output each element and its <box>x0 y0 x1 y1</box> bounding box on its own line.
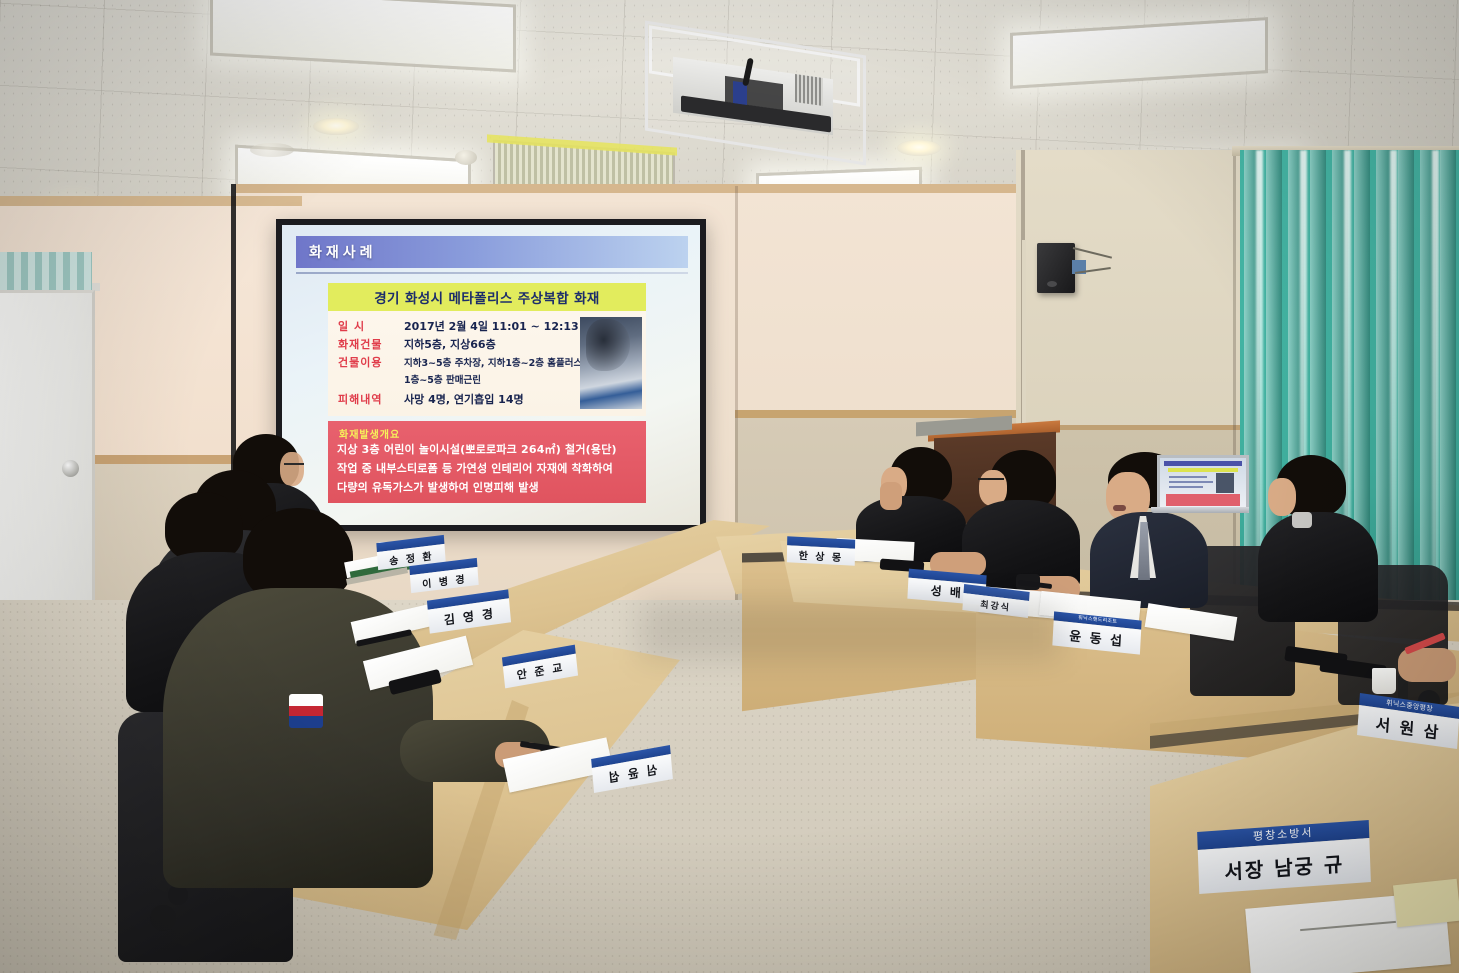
slide-summary-line: 지상 3층 어린이 놀이시설(뽀로로파크 264㎡) 철거(용단) <box>337 441 617 457</box>
slide-title-box: 경기 화성시 메타폴리스 주상복합 화재 <box>328 283 646 311</box>
nameplate-name: 서 원 삼 <box>1375 710 1441 743</box>
projector-vent-grille <box>795 74 823 106</box>
slide-detail-panel: 일 시 2017년 2월 4일 11:01 ~ 12:13 화재건물 지하5층,… <box>328 311 646 416</box>
paper-cup <box>1372 668 1396 694</box>
nameplate-name: 성 배 <box>930 582 963 602</box>
slide-summary-heading: 화재발생개요 <box>339 426 400 441</box>
slide-row-label: 일 시 <box>338 318 404 334</box>
fire-photo-inset <box>580 317 642 409</box>
slide-title-text: 경기 화성시 메타폴리스 주상복합 화재 <box>374 287 600 307</box>
smoke-detector <box>455 150 477 165</box>
left-wall-rail <box>0 196 302 206</box>
attendee-collar <box>1292 512 1312 528</box>
projector-mount-cage <box>645 38 860 143</box>
speaker-conduit <box>1022 240 1026 440</box>
slide-row-label: 화재건물 <box>338 336 404 352</box>
floor-shadow <box>640 600 1060 660</box>
slide-row-value: 사망 4명, 연기흡입 14명 <box>404 391 524 407</box>
smoke-plume <box>586 319 630 371</box>
slide-row-value: 1층~5층 판매근린 <box>404 372 481 386</box>
slide-row-label: 피해내역 <box>338 391 404 407</box>
back-wall-rail <box>236 184 1026 193</box>
laptop-slide-title <box>1168 468 1238 472</box>
eyeglasses-icon <box>978 478 1004 485</box>
nameplate-name: 서장 남궁 규 <box>1224 847 1345 884</box>
nameplate: 한 상 몽 <box>787 536 855 566</box>
presenter-laptop[interactable] <box>1157 455 1243 517</box>
door-knob[interactable] <box>62 460 79 477</box>
laptop-slide-photo <box>1216 473 1234 493</box>
slide-summary-line: 다량의 유독가스가 발생하여 인명피해 발생 <box>337 479 539 495</box>
slide-row-value: 지하5층, 지상66층 <box>404 336 496 352</box>
laptop-slide-redbox <box>1166 494 1240 506</box>
document-yellow <box>1393 879 1459 927</box>
laptop-slide-header <box>1164 461 1242 466</box>
laptop-screen <box>1157 455 1249 513</box>
jacket-logo-patch <box>289 694 323 728</box>
slide-header-bar: 화재사례 <box>296 236 688 268</box>
ceiling-downlight <box>897 140 941 156</box>
chair-caster <box>150 905 176 931</box>
speaker-cone-icon <box>1047 281 1057 287</box>
nameplate-chief: 평창소방서 서장 남궁 규 <box>1197 820 1371 894</box>
ceiling-downlight <box>313 118 359 135</box>
nameplate-name: 김 영 경 <box>443 604 495 628</box>
nameplate-name: 윤 동 섭 <box>1069 625 1125 650</box>
attendee-body <box>1258 512 1378 622</box>
nameplate-name: 심 윤 섭 <box>606 761 658 787</box>
attendee-face <box>1268 478 1296 516</box>
eyeglasses-icon <box>284 463 304 470</box>
laptop-base <box>1151 507 1249 513</box>
chair-caster <box>168 885 188 905</box>
speaker-mouth <box>1113 505 1126 511</box>
nameplate-name: 한 상 몽 <box>799 547 844 564</box>
slide-row-value: 지하3~5층 주차장, 지하1층~2층 홈플러스, <box>404 355 586 369</box>
smoke-detector <box>250 143 294 157</box>
slide-divider <box>296 272 688 274</box>
meeting-room-screenshot: 화재사례 경기 화성시 메타폴리스 주상복합 화재 일 시 2017년 2월 4… <box>0 0 1459 973</box>
attendee-hand <box>880 482 902 510</box>
slide-row-value: 2017년 2월 4일 11:01 ~ 12:13 <box>404 318 579 334</box>
slide-header-text: 화재사례 <box>296 242 377 262</box>
slide-summary-box: 화재발생개요 지상 3층 어린이 놀이시설(뽀로로파크 264㎡) 철거(용단)… <box>328 421 646 503</box>
slide-row-label: 건물이용 <box>338 354 404 370</box>
projection-screen: 화재사례 경기 화성시 메타폴리스 주상복합 화재 일 시 2017년 2월 4… <box>282 225 700 525</box>
slide-summary-line: 작업 중 내부스티로폼 등 가연성 인테리어 자재에 착화하여 <box>337 460 613 476</box>
